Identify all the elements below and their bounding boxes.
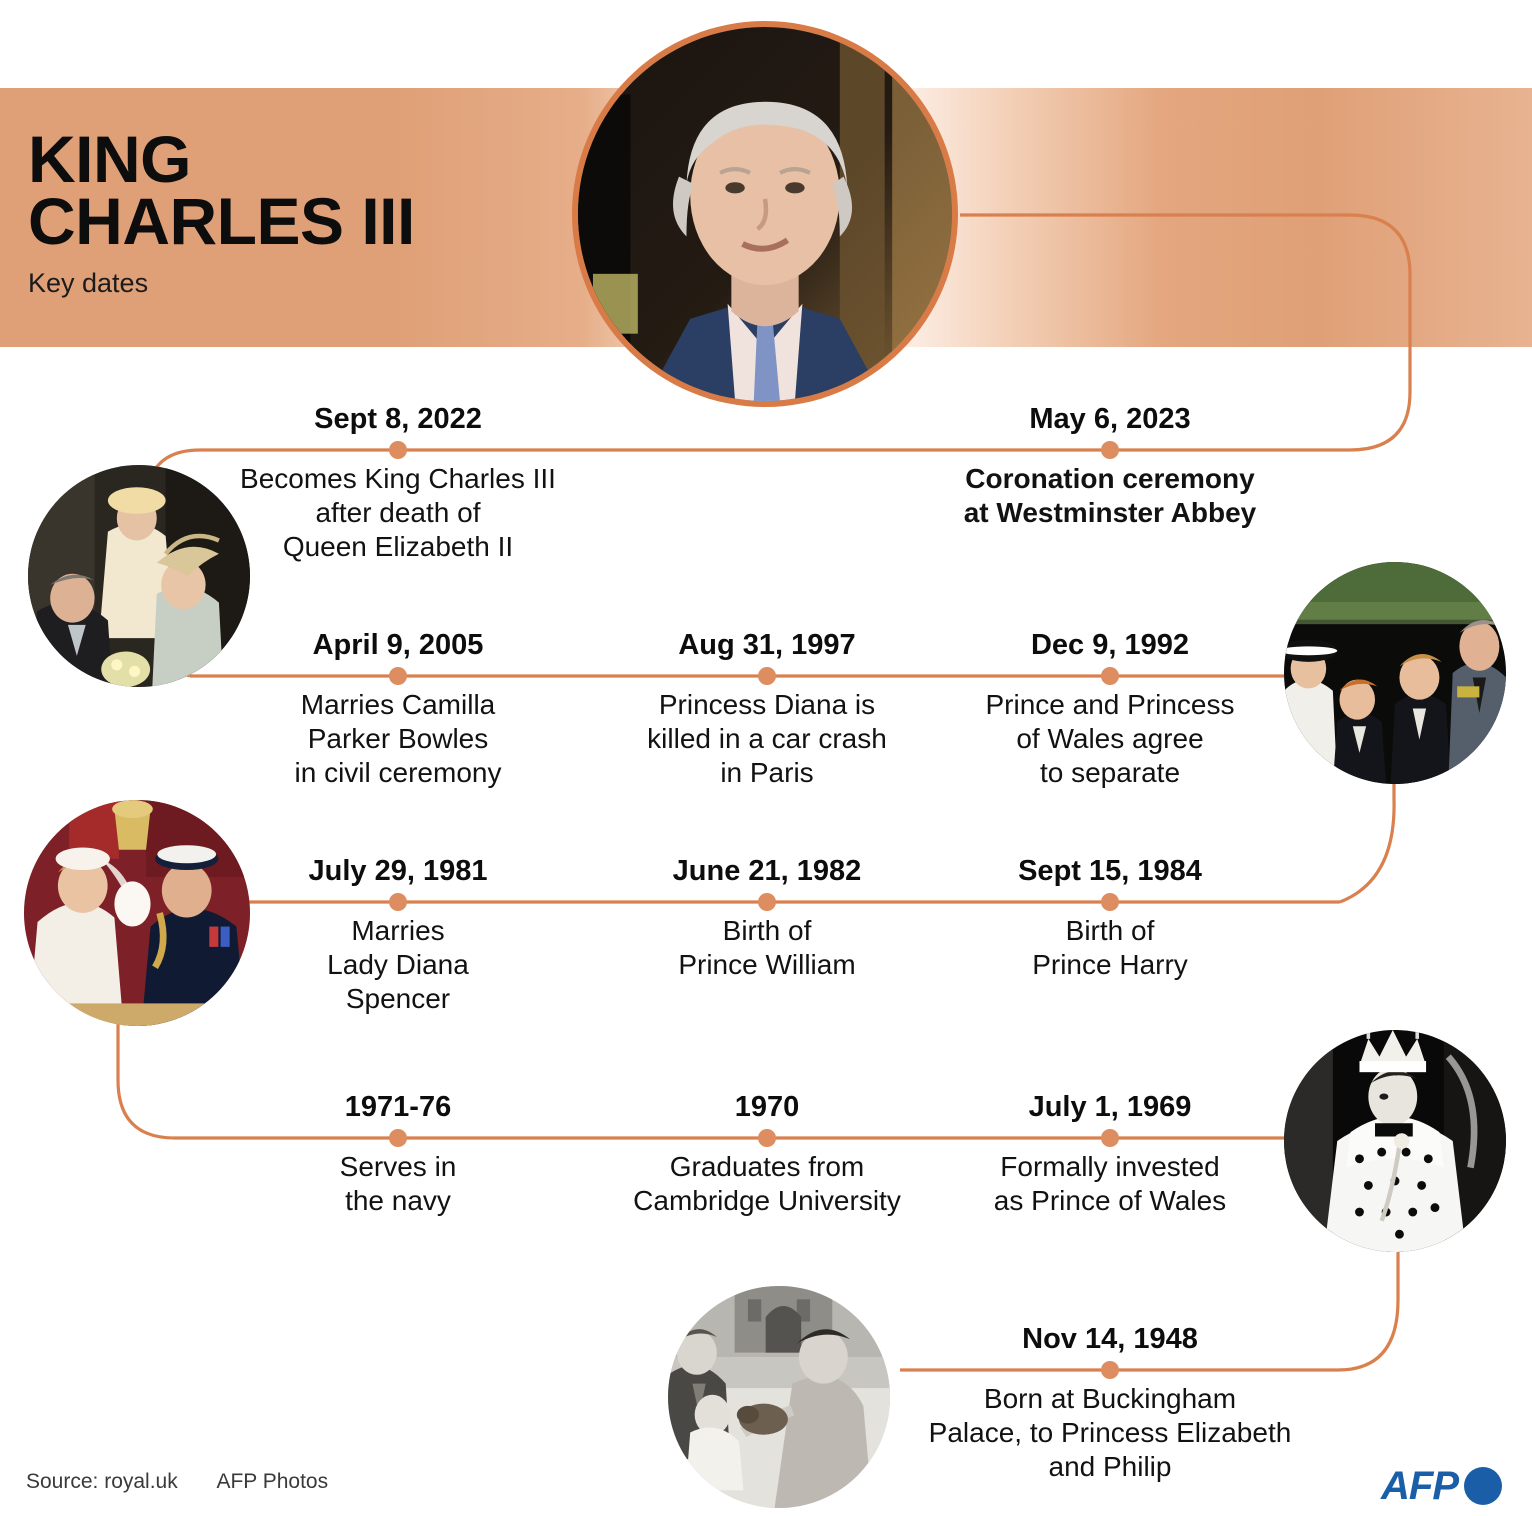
event-description: Born at BuckinghamPalace, to Princess El…	[900, 1382, 1320, 1484]
photo-diana-charles-boys	[1284, 562, 1506, 784]
event-description: Becomes King Charles IIIafter death ofQu…	[218, 462, 578, 564]
event-1982-06-21: June 21, 1982 Birth ofPrince William	[597, 854, 937, 982]
event-date: July 29, 1981	[228, 854, 568, 888]
photo-baby-charles-parents	[668, 1286, 890, 1508]
afp-logo-text: AFP	[1381, 1466, 1458, 1506]
event-description: Formally investedas Prince of Wales	[940, 1150, 1280, 1218]
event-date: June 21, 1982	[597, 854, 937, 888]
event-date: July 1, 1969	[940, 1090, 1280, 1124]
event-2023-05-06: May 6, 2023 Coronation ceremonyat Westmi…	[930, 402, 1290, 530]
event-date: May 6, 2023	[930, 402, 1290, 436]
event-description: Birth ofPrince Harry	[940, 914, 1280, 982]
event-1992-12-09: Dec 9, 1992 Prince and Princessof Wales …	[940, 628, 1280, 790]
event-2022-09-08: Sept 8, 2022 Becomes King Charles IIIaft…	[218, 402, 578, 564]
event-date: 1971-76	[228, 1090, 568, 1124]
event-1981-07-29: July 29, 1981 MarriesLady DianaSpencer	[228, 854, 568, 1016]
event-description: Princess Diana iskilled in a car crashin…	[597, 688, 937, 790]
event-description: Serves inthe navy	[228, 1150, 568, 1218]
afp-logo-dot-icon	[1464, 1467, 1502, 1505]
event-date: Sept 8, 2022	[218, 402, 578, 436]
footer: Source: royal.uk AFP Photos	[26, 1470, 362, 1494]
event-description: Coronation ceremonyat Westminster Abbey	[930, 462, 1290, 530]
event-1948-11-14: Nov 14, 1948 Born at BuckinghamPalace, t…	[900, 1322, 1320, 1484]
event-description: Marries CamillaParker Bowlesin civil cer…	[228, 688, 568, 790]
photo-charles-camilla-wedding	[28, 465, 250, 687]
photo-investiture-prince-of-wales	[1284, 1030, 1506, 1252]
event-1969-07-01: July 1, 1969 Formally investedas Prince …	[940, 1090, 1280, 1218]
event-1984-09-15: Sept 15, 1984 Birth ofPrince Harry	[940, 854, 1280, 982]
photo-charles-diana-carriage	[24, 800, 250, 1026]
event-date: April 9, 2005	[228, 628, 568, 662]
event-description: MarriesLady DianaSpencer	[228, 914, 568, 1016]
event-description: Birth ofPrince William	[597, 914, 937, 982]
event-date: Aug 31, 1997	[597, 628, 937, 662]
portrait-king-charles	[578, 27, 952, 401]
event-description: Graduates fromCambridge University	[597, 1150, 937, 1218]
event-date: Sept 15, 1984	[940, 854, 1280, 888]
event-description: Prince and Princessof Wales agreeto sepa…	[940, 688, 1280, 790]
source-label: Source: royal.uk	[26, 1470, 178, 1493]
event-date: Dec 9, 1992	[940, 628, 1280, 662]
event-2005-04-09: April 9, 2005 Marries CamillaParker Bowl…	[228, 628, 568, 790]
afp-logo: AFP	[1381, 1466, 1502, 1506]
photo-credit-label: AFP Photos	[216, 1470, 328, 1493]
event-1970: 1970 Graduates fromCambridge University	[597, 1090, 937, 1218]
event-date: 1970	[597, 1090, 937, 1124]
event-1971-76: 1971-76 Serves inthe navy	[228, 1090, 568, 1218]
event-1997-08-31: Aug 31, 1997 Princess Diana iskilled in …	[597, 628, 937, 790]
infographic-canvas: KING CHARLES III Key dates	[0, 0, 1532, 1516]
event-date: Nov 14, 1948	[900, 1322, 1320, 1356]
